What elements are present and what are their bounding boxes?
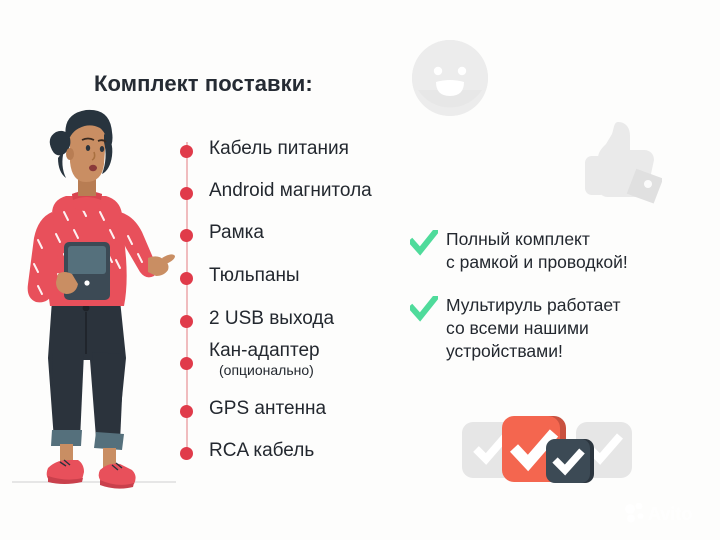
list-item-label: RCA кабель <box>209 440 314 462</box>
thumbs-up-icon <box>578 118 662 208</box>
list-item-label: 2 USB выхода <box>209 308 334 330</box>
bullet-dot-icon <box>180 447 193 460</box>
bullet-dot-icon <box>180 145 193 158</box>
bullet-dot-icon <box>180 187 193 200</box>
woman-with-tablet-illustration <box>8 108 176 504</box>
bullet-dot-icon <box>180 315 193 328</box>
list-item-label: Тюльпаны <box>209 265 300 287</box>
list-item-sublabel: (опционально) <box>219 362 314 378</box>
page-title: Комплект поставки: <box>94 71 313 97</box>
bullet-dot-icon <box>180 229 193 242</box>
list-item-label: Android магнитола <box>209 180 372 202</box>
promo-banner: Комплект поставки: Кабель питания Androi… <box>0 0 720 540</box>
bullet-dot-icon <box>180 272 193 285</box>
bullet-dot-icon <box>180 405 193 418</box>
feature-text: Полный комплект с рамкой и проводкой! <box>446 228 690 274</box>
avito-watermark: Avito <box>622 500 710 526</box>
feature-line: с рамкой и проводкой! <box>446 251 690 274</box>
feature-item: Мультируль работает со всеми нашими устр… <box>410 294 690 363</box>
feature-item: Полный комплект с рамкой и проводкой! <box>410 228 690 274</box>
smiley-face-icon <box>410 38 490 118</box>
feature-line: устройствами! <box>446 340 690 363</box>
checkbox-tiles-graphic <box>462 408 632 490</box>
feature-line: Полный комплект <box>446 228 690 251</box>
check-icon <box>410 230 438 256</box>
feature-text: Мультируль работает со всеми нашими устр… <box>446 294 690 363</box>
list-item-label: Кабель питания <box>209 138 349 160</box>
avito-watermark-label: Avito <box>648 504 692 524</box>
feature-list: Полный комплект с рамкой и проводкой! Му… <box>410 228 690 377</box>
feature-line: со всеми нашими <box>446 317 690 340</box>
list-item-label: GPS антенна <box>209 398 326 420</box>
list-item-label: Кан-адаптер <box>209 340 320 362</box>
list-item-label: Рамка <box>209 222 264 244</box>
check-icon <box>410 296 438 322</box>
feature-line: Мультируль работает <box>446 294 690 317</box>
bullet-dot-icon <box>180 357 193 370</box>
spec-list: Кабель питания Android магнитола Рамка Т… <box>178 130 408 460</box>
